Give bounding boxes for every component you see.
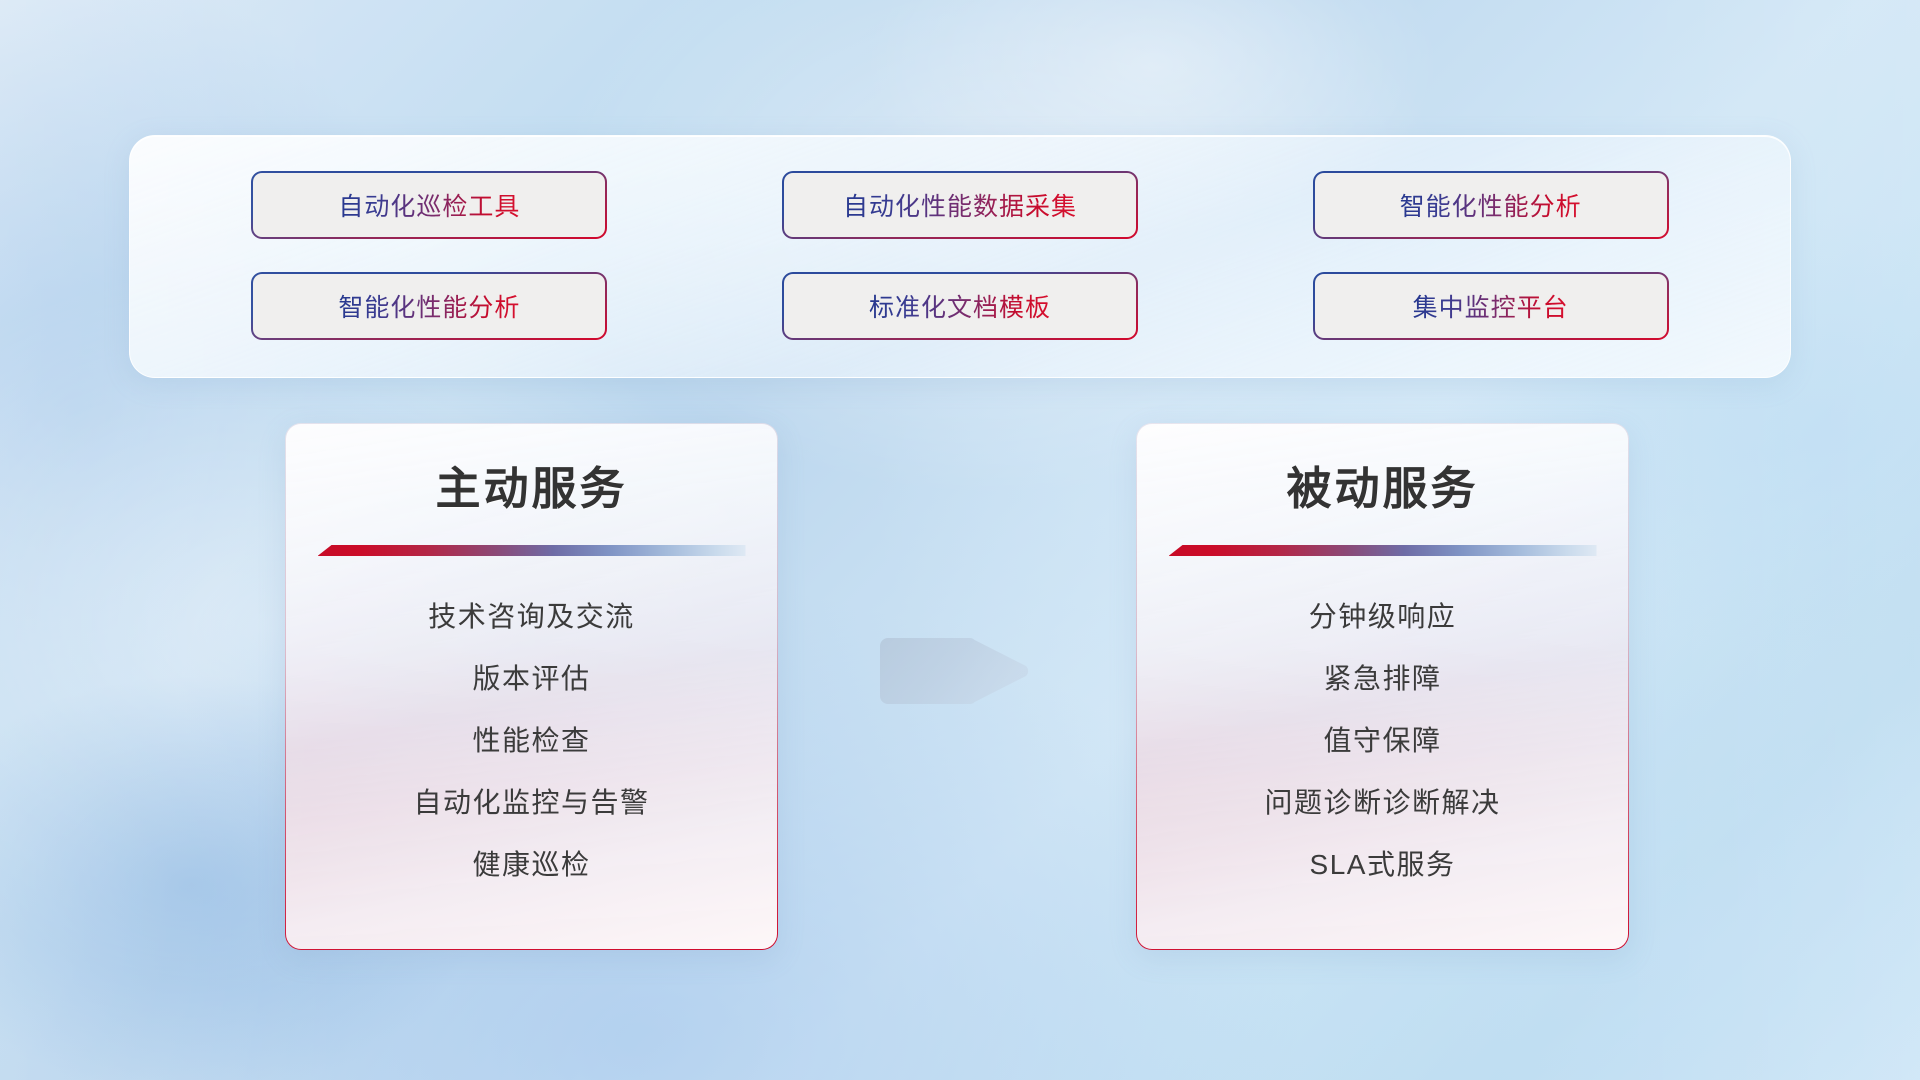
- list-item: 自动化监控与告警: [286, 772, 777, 834]
- list-item: 版本评估: [286, 648, 777, 710]
- arrow-right-icon: [874, 620, 1034, 722]
- capability-tag-5[interactable]: 标准化文档模板: [782, 272, 1138, 340]
- capability-tag-label: 自动化巡检工具: [338, 187, 520, 223]
- list-item: 性能检查: [286, 710, 777, 772]
- capability-tag-label: 集中监控平台: [1413, 288, 1569, 324]
- capability-tag-label: 自动化性能数据采集: [843, 187, 1077, 223]
- capability-tag-panel: 自动化巡检工具 自动化性能数据采集 智能化性能分析 智能化性能分析 标准化文档模…: [129, 135, 1791, 378]
- list-item: 问题诊断诊断解决: [1137, 772, 1628, 834]
- capability-tag-2[interactable]: 自动化性能数据采集: [782, 171, 1138, 239]
- slide-canvas: 自动化巡检工具 自动化性能数据采集 智能化性能分析 智能化性能分析 标准化文档模…: [0, 0, 1920, 1080]
- passive-service-list: 分钟级响应 紧急排障 值守保障 问题诊断诊断解决 SLA式服务: [1137, 586, 1628, 896]
- capability-tag-1[interactable]: 自动化巡检工具: [251, 171, 607, 239]
- active-service-card: 主动服务 技术咨询及交流 版本评估 性能检查 自动化监控与告警 健康巡检: [285, 423, 778, 950]
- passive-service-card: 被动服务 分钟级响应 紧急排障 值守保障 问题诊断诊断解决 SLA式服务: [1136, 423, 1629, 950]
- list-item: 技术咨询及交流: [286, 586, 777, 648]
- list-item: 健康巡检: [286, 834, 777, 896]
- capability-tag-label: 智能化性能分析: [1400, 187, 1582, 223]
- capability-tag-label: 智能化性能分析: [338, 288, 520, 324]
- capability-tag-4[interactable]: 智能化性能分析: [251, 272, 607, 340]
- passive-service-title: 被动服务: [1137, 452, 1628, 517]
- list-item: SLA式服务: [1137, 834, 1628, 896]
- active-service-divider: [318, 545, 746, 556]
- capability-tag-3[interactable]: 智能化性能分析: [1313, 171, 1669, 239]
- list-item: 分钟级响应: [1137, 586, 1628, 648]
- capability-tag-label: 标准化文档模板: [869, 288, 1051, 324]
- list-item: 值守保障: [1137, 710, 1628, 772]
- active-service-list: 技术咨询及交流 版本评估 性能检查 自动化监控与告警 健康巡检: [286, 586, 777, 896]
- passive-service-divider: [1169, 545, 1597, 556]
- active-service-title: 主动服务: [286, 452, 777, 517]
- list-item: 紧急排障: [1137, 648, 1628, 710]
- capability-tag-6[interactable]: 集中监控平台: [1313, 272, 1669, 340]
